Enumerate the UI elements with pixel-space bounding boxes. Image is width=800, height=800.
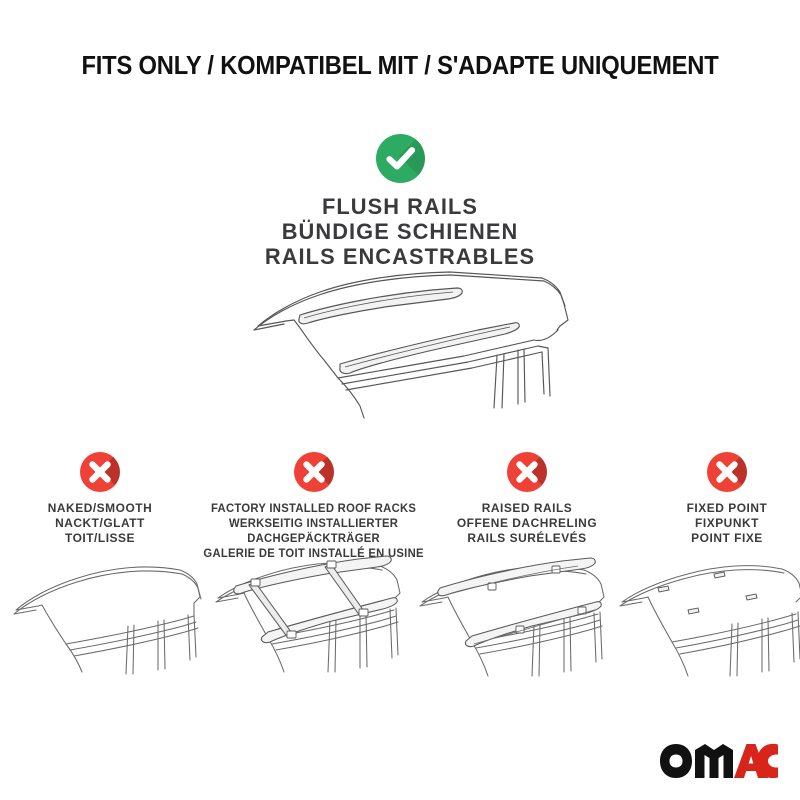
raised-rails-line-art (412, 552, 612, 692)
compatible-section: FLUSH RAILS BÜNDIGE SCHIENEN RAILS ENCAS… (0, 134, 800, 269)
check-circle-icon (376, 134, 425, 183)
x-circle-icon (80, 452, 120, 492)
compatible-label: FLUSH RAILS BÜNDIGE SCHIENEN RAILS ENCAS… (12, 194, 788, 269)
incompatible-illustrations (0, 552, 800, 692)
header: FITS ONLY / KOMPATIBEL MIT / S'ADAPTE UN… (0, 52, 800, 81)
car-roof-raised-rails-illustration (412, 552, 612, 692)
incompatible-item-factory-roof-racks: FACTORY INSTALLED ROOF RACKS WERKSEITIG … (200, 452, 427, 561)
compatible-label-line-de: BÜNDIGE SCHIENEN (12, 219, 788, 244)
compatible-label-line-en: FLUSH RAILS (12, 194, 788, 219)
naked-roof-line-art (8, 552, 208, 692)
logo-letter-m (695, 744, 733, 778)
fixed-point-line-art (614, 552, 800, 692)
logo-letter-o (660, 744, 692, 778)
incompatible-item-naked-smooth: NAKED/SMOOTH NACKT/GLATT TOIT/LISSE (0, 452, 200, 546)
flush-rails-line-art (242, 268, 572, 423)
omac-logo (658, 742, 778, 782)
label-line-de: FIXPUNKT (630, 516, 800, 531)
label-line-en: FACTORY INSTALLED ROOF RACKS (203, 501, 423, 516)
check-mark-glyph (376, 134, 425, 183)
x-circle-icon (707, 452, 747, 492)
label-line-en: FIXED POINT (630, 501, 800, 516)
car-roof-naked-smooth-illustration (8, 552, 208, 692)
label-line-en: RAISED RAILS (430, 501, 624, 516)
car-roof-fixed-point-illustration (614, 552, 800, 692)
car-roof-factory-roof-racks-illustration (208, 552, 408, 692)
x-circle-icon (294, 452, 334, 492)
car-roof-flush-rails-illustration (242, 268, 572, 423)
incompatible-label: NAKED/SMOOTH NACKT/GLATT TOIT/LISSE (3, 501, 197, 546)
incompatible-section: NAKED/SMOOTH NACKT/GLATT TOIT/LISSE FACT… (0, 452, 800, 561)
label-line-fr: RAILS SURÉLEVÉS (430, 531, 624, 546)
flush-rail-lower (340, 323, 519, 374)
x-circle-icon (507, 452, 547, 492)
incompatible-label: RAISED RAILS OFFENE DACHRELING RAILS SUR… (430, 501, 624, 546)
x-mark-glyph (80, 452, 120, 492)
factory-roof-racks-line-art (208, 552, 408, 692)
label-line-de-1: WERKSEITIG INSTALLIERTER (203, 516, 423, 531)
omac-wordmark (658, 742, 778, 782)
incompatible-item-fixed-point: FIXED POINT FIXPUNKT POINT FIXE (627, 452, 800, 546)
incompatible-label: FIXED POINT FIXPUNKT POINT FIXE (630, 501, 800, 546)
x-mark-glyph (507, 452, 547, 492)
label-line-de: NACKT/GLATT (3, 516, 197, 531)
label-line-de-2: DACHGEPÄCKTRÄGER (203, 531, 423, 546)
label-line-fr: POINT FIXE (630, 531, 800, 546)
label-line-en: NAKED/SMOOTH (3, 501, 197, 516)
label-line-fr: TOIT/LISSE (3, 531, 197, 546)
label-line-de: OFFENE DACHRELING (430, 516, 624, 531)
incompatible-item-raised-rails: RAISED RAILS OFFENE DACHRELING RAILS SUR… (427, 452, 627, 546)
x-mark-glyph (707, 452, 747, 492)
compatible-label-line-fr: RAILS ENCASTRABLES (12, 244, 788, 269)
page-title: FITS ONLY / KOMPATIBEL MIT / S'ADAPTE UN… (28, 52, 772, 81)
x-mark-glyph (294, 452, 334, 492)
